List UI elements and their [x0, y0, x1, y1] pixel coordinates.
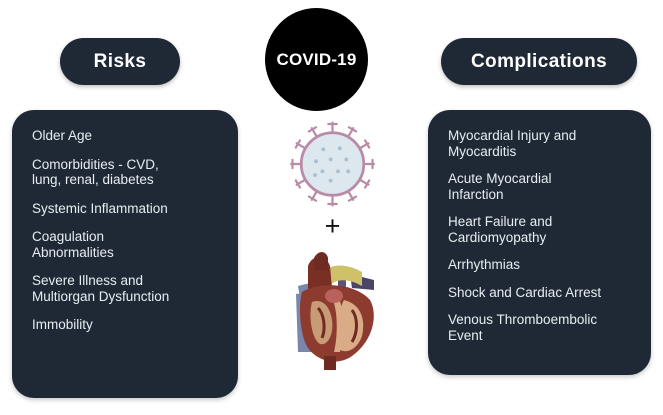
list-item: Severe Illness and Multiorgan Dysfunctio… [32, 273, 218, 304]
risks-header-pill: Risks [60, 38, 180, 85]
list-item: Venous Thromboembolic Event [448, 312, 631, 343]
list-item: Shock and Cardiac Arrest [448, 285, 631, 301]
list-item: Older Age [32, 128, 218, 144]
risks-list: Older Age Comorbidities - CVD, lung, ren… [32, 128, 218, 333]
risks-title: Risks [94, 51, 147, 73]
complications-list: Myocardial Injury and Myocarditis Acute … [448, 128, 631, 343]
complications-panel: Myocardial Injury and Myocarditis Acute … [428, 110, 651, 375]
complications-header-pill: Complications [441, 38, 637, 85]
covid-19-label: COVID-19 [276, 50, 356, 70]
list-item: Heart Failure and Cardiomyopathy [448, 214, 631, 245]
plus-icon: + [305, 206, 360, 246]
coronavirus-icon [283, 118, 382, 210]
list-item: Immobility [32, 317, 218, 333]
complications-title: Complications [471, 51, 607, 73]
risks-panel: Older Age Comorbidities - CVD, lung, ren… [12, 110, 238, 398]
plus-symbol: + [325, 213, 341, 240]
list-item: Acute Myocardial Infarction [448, 171, 631, 202]
list-item: Coagulation Abnormalities [32, 229, 218, 260]
infographic-canvas: Risks COVID-19 Complications Older Age C… [0, 0, 663, 415]
list-item: Comorbidities - CVD, lung, renal, diabet… [32, 157, 218, 188]
list-item: Arrhythmias [448, 257, 631, 273]
list-item: Myocardial Injury and Myocarditis [448, 128, 631, 159]
covid-19-badge: COVID-19 [265, 8, 368, 111]
anatomical-heart-icon [278, 244, 386, 370]
list-item: Systemic Inflammation [32, 201, 218, 217]
